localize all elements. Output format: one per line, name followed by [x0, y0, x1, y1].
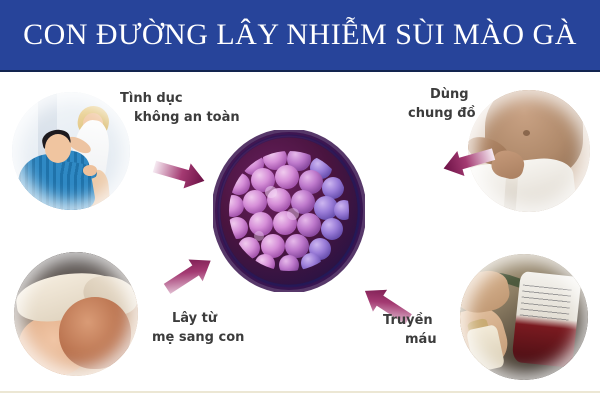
diagram-stage: Tình dục không an toàn Dùng chung đồ Lây… — [0, 72, 600, 400]
virus-illustration — [213, 130, 365, 292]
title-banner: CON ĐƯỜNG LÂY NHIỄM SÙI MÀO GÀ — [0, 0, 600, 72]
arrow-from-top-left — [151, 154, 208, 193]
route-label-blood: Truyền máu — [383, 312, 437, 350]
route-label-sex-line2: không an toàn — [120, 109, 240, 128]
footer-rule — [0, 391, 600, 393]
route-label-mother: Lây từ mẹ sang con — [152, 310, 244, 348]
route-label-mother-line1: Lây từ — [152, 310, 244, 329]
route-label-sex-line1: Tình dục — [120, 90, 240, 109]
route-label-mother-line2: mẹ sang con — [152, 329, 244, 348]
arrow-from-bottom-left — [160, 250, 218, 300]
route-label-share-line2: chung đồ — [408, 105, 476, 124]
route-label-share: Dùng chung đồ — [408, 86, 476, 124]
route-label-blood-line2: máu — [383, 331, 437, 350]
route-label-sex: Tình dục không an toàn — [120, 90, 240, 128]
infographic-poster: CON ĐƯỜNG LÂY NHIỄM SÙI MÀO GÀ — [0, 0, 600, 400]
route-label-blood-line1: Truyền — [383, 312, 437, 331]
route-label-share-line1: Dùng — [408, 86, 476, 105]
arrow-from-top-right — [440, 142, 497, 181]
page-title: CON ĐƯỜNG LÂY NHIỄM SÙI MÀO GÀ — [23, 20, 577, 50]
